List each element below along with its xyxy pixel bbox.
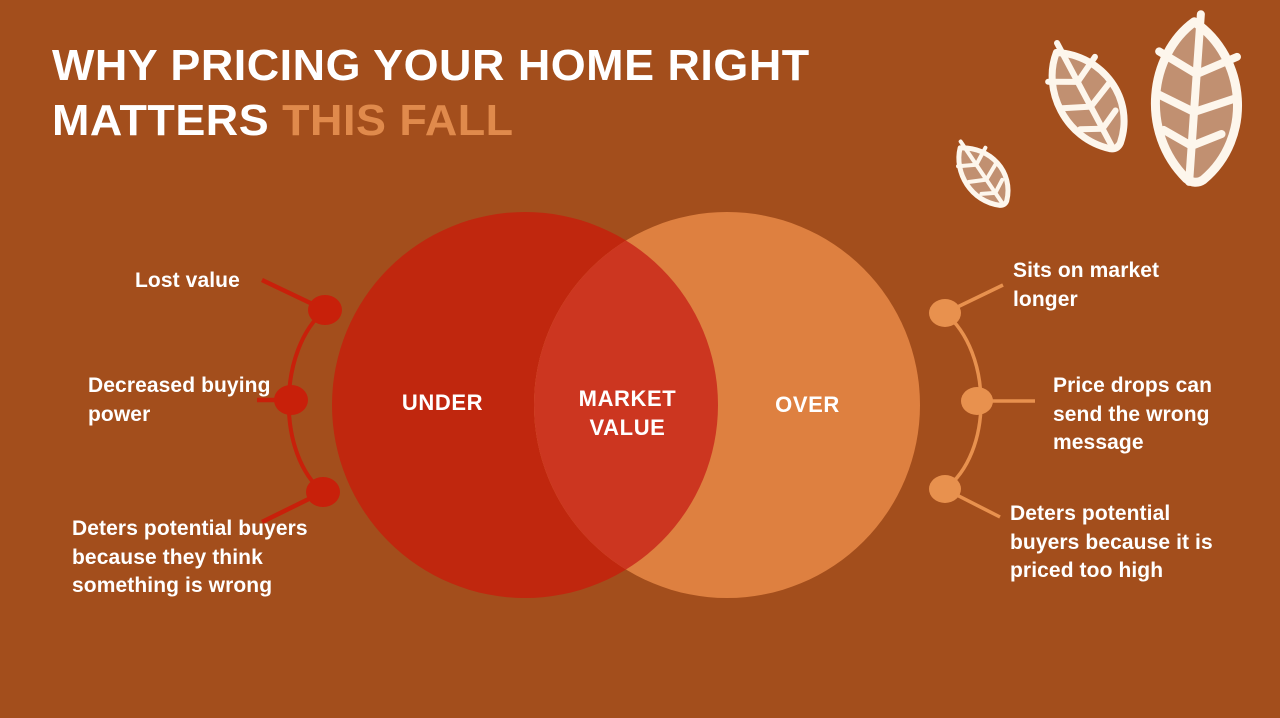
infographic-canvas: WHY PRICING YOUR HOME RIGHT MATTERS THIS… <box>0 0 1280 718</box>
venn-label-under: UNDER <box>355 388 530 417</box>
leaf-icon-large <box>1150 12 1244 185</box>
callout-left-deters-buyers: Deters potential buyers because they thi… <box>72 515 342 601</box>
title-line-2: MATTERS THIS FALL <box>52 93 970 148</box>
connector-dot-right-1 <box>961 387 993 415</box>
leaf-icon-medium <box>1032 29 1140 163</box>
connector-dot-right-0 <box>929 299 961 327</box>
callout-left-lost-value: Lost value <box>135 267 335 296</box>
title-accent-this-fall: THIS FALL <box>282 96 513 145</box>
callout-left-decreased-buying-power: Decreased buying power <box>88 372 303 429</box>
connector-dot-left-2 <box>306 477 340 507</box>
venn-label-over: OVER <box>725 390 890 419</box>
connector-dot-right-2 <box>929 475 961 503</box>
title-line-2-plain: MATTERS <box>52 96 282 145</box>
connector-stem-right-0 <box>945 285 1003 313</box>
connector-stem-right-2 <box>945 489 1000 517</box>
connector-dot-left-0 <box>308 295 342 325</box>
callout-right-price-drops: Price drops can send the wrong message <box>1053 372 1253 458</box>
callout-right-deters-buyers: Deters potential buyers because it is pr… <box>1010 500 1215 586</box>
callout-right-sits-on-market-longer: Sits on market longer <box>1013 257 1228 314</box>
page-title: WHY PRICING YOUR HOME RIGHT MATTERS THIS… <box>52 38 952 148</box>
title-line-1: WHY PRICING YOUR HOME RIGHT <box>52 38 970 93</box>
venn-label-market-value: MARKET VALUE <box>545 384 710 442</box>
connector-arc-right <box>945 313 981 489</box>
